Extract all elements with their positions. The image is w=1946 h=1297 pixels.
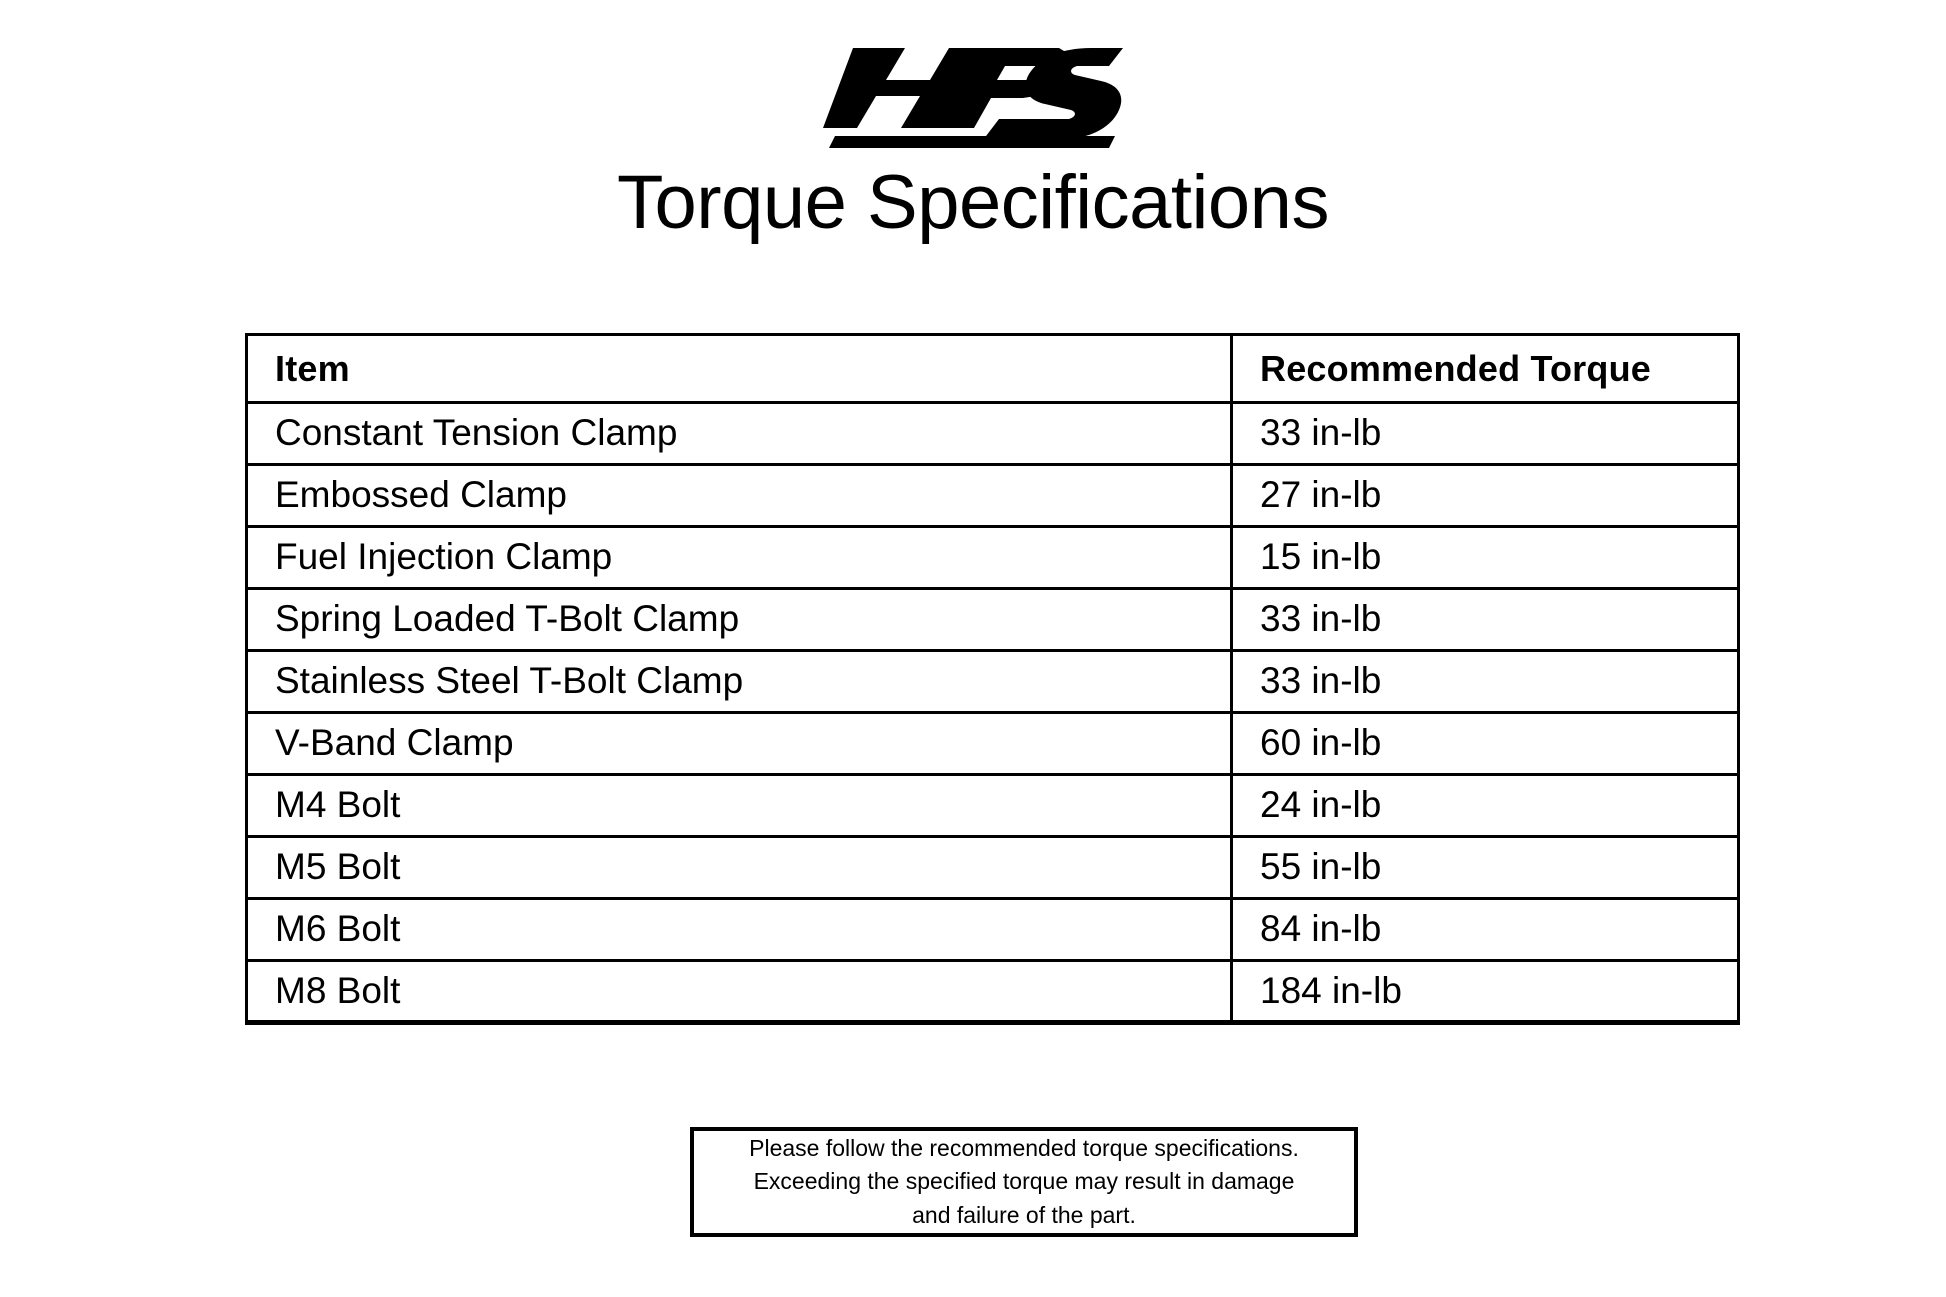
cell-torque: 27 in-lb: [1232, 465, 1739, 527]
cell-item: M8 Bolt: [247, 961, 1232, 1023]
cell-item: M6 Bolt: [247, 899, 1232, 961]
table-row: Embossed Clamp 27 in-lb: [247, 465, 1739, 527]
table-row: M4 Bolt 24 in-lb: [247, 775, 1739, 837]
cell-torque: 55 in-lb: [1232, 837, 1739, 899]
cell-item: M5 Bolt: [247, 837, 1232, 899]
torque-specifications-table-container: Item Recommended Torque Constant Tension…: [245, 333, 1737, 1025]
warning-note-box: Please follow the recommended torque spe…: [690, 1127, 1358, 1237]
cell-torque: 60 in-lb: [1232, 713, 1739, 775]
cell-torque: 184 in-lb: [1232, 961, 1739, 1023]
cell-item: Constant Tension Clamp: [247, 403, 1232, 465]
cell-torque: 33 in-lb: [1232, 651, 1739, 713]
cell-item: Fuel Injection Clamp: [247, 527, 1232, 589]
note-line-1: Please follow the recommended torque spe…: [749, 1132, 1299, 1165]
cell-item: M4 Bolt: [247, 775, 1232, 837]
cell-item: Stainless Steel T-Bolt Clamp: [247, 651, 1232, 713]
cell-torque: 15 in-lb: [1232, 527, 1739, 589]
cell-item: Embossed Clamp: [247, 465, 1232, 527]
cell-torque: 24 in-lb: [1232, 775, 1739, 837]
table-row: Spring Loaded T-Bolt Clamp 33 in-lb: [247, 589, 1739, 651]
page-title: Torque Specifications: [0, 163, 1946, 243]
cell-item: Spring Loaded T-Bolt Clamp: [247, 589, 1232, 651]
table-row: Fuel Injection Clamp 15 in-lb: [247, 527, 1739, 589]
torque-specifications-table: Item Recommended Torque Constant Tension…: [245, 333, 1740, 1025]
cell-item: V-Band Clamp: [247, 713, 1232, 775]
table-header-row: Item Recommended Torque: [247, 335, 1739, 403]
table-row: M5 Bolt 55 in-lb: [247, 837, 1739, 899]
table-header: Item Recommended Torque: [247, 335, 1739, 403]
cell-torque: 33 in-lb: [1232, 403, 1739, 465]
table-row: Stainless Steel T-Bolt Clamp 33 in-lb: [247, 651, 1739, 713]
table-row: M6 Bolt 84 in-lb: [247, 899, 1739, 961]
cell-torque: 33 in-lb: [1232, 589, 1739, 651]
table-row: M8 Bolt 184 in-lb: [247, 961, 1739, 1023]
table-body: Constant Tension Clamp 33 in-lb Embossed…: [247, 403, 1739, 1023]
cell-torque: 84 in-lb: [1232, 899, 1739, 961]
table-row: V-Band Clamp 60 in-lb: [247, 713, 1739, 775]
column-header-item: Item: [247, 335, 1232, 403]
column-header-recommended-torque: Recommended Torque: [1232, 335, 1739, 403]
note-line-3: and failure of the part.: [912, 1199, 1136, 1232]
brand-logo: [0, 40, 1946, 150]
hps-logo-icon: [823, 40, 1123, 148]
note-line-2: Exceeding the specified torque may resul…: [754, 1165, 1295, 1198]
table-row: Constant Tension Clamp 33 in-lb: [247, 403, 1739, 465]
